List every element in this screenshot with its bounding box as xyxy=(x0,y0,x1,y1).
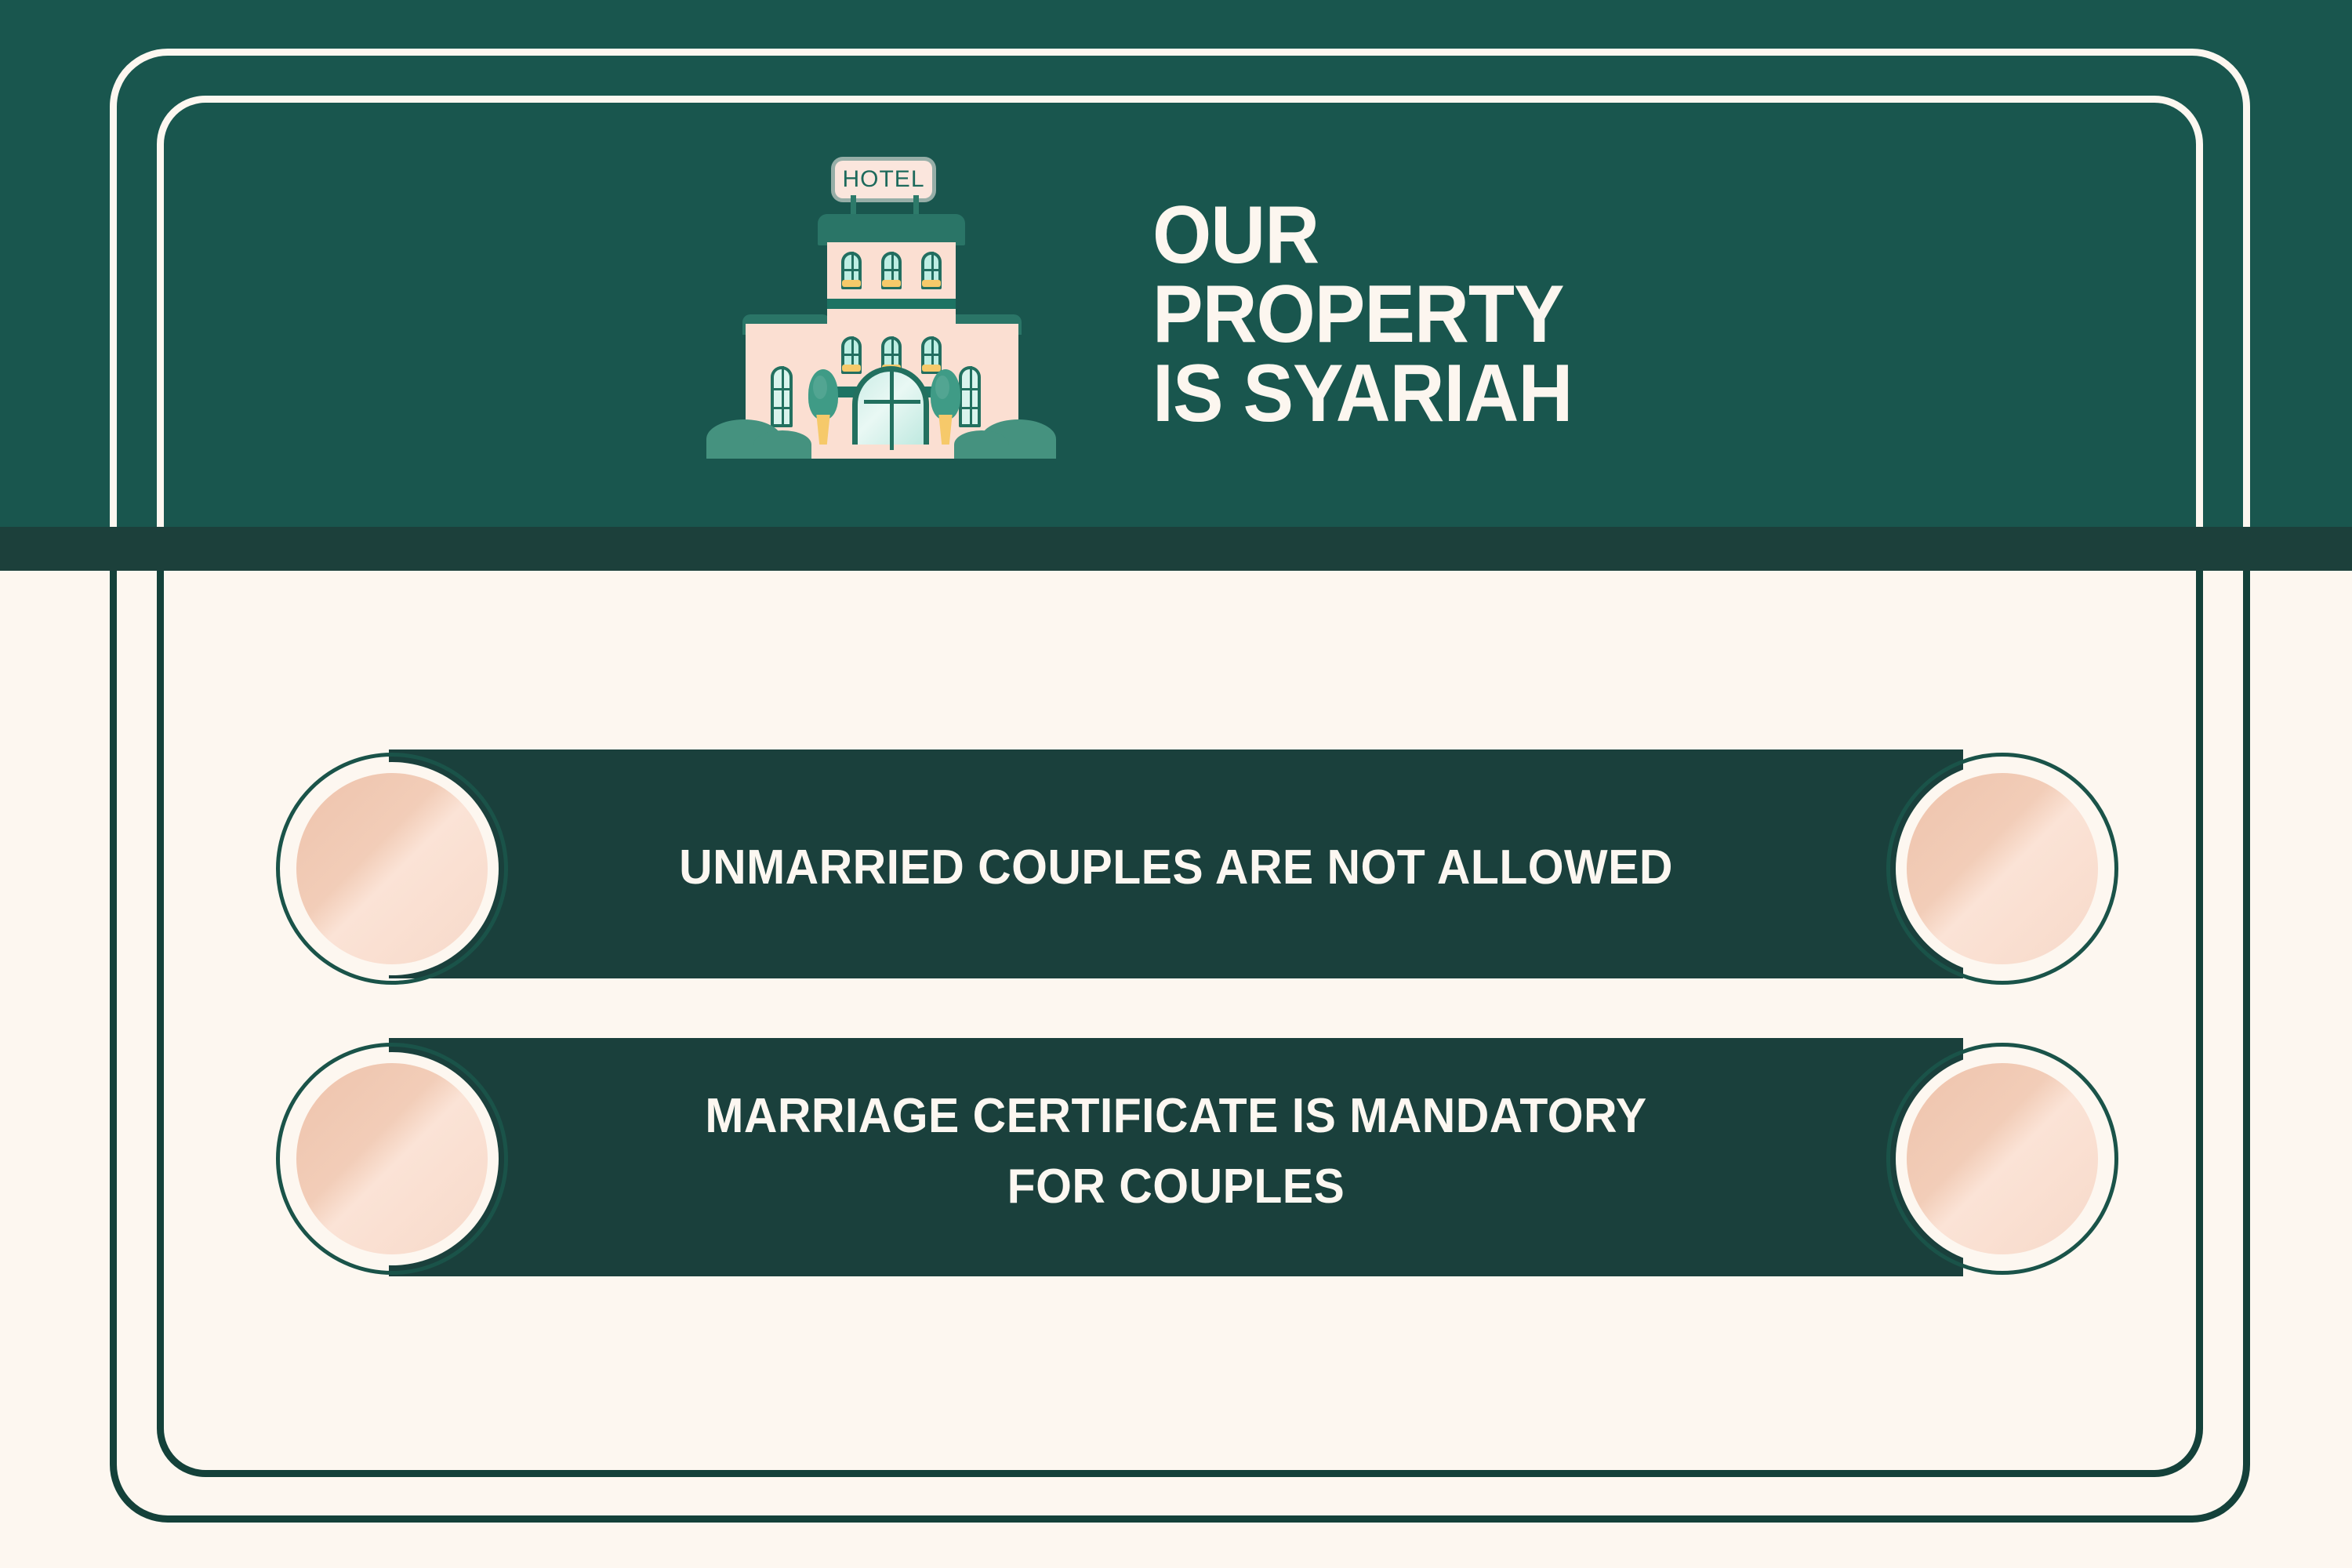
hotel-side-window xyxy=(771,366,793,427)
hotel-cornice-upper xyxy=(827,299,956,309)
decorative-circle-right xyxy=(1907,1063,2098,1254)
hotel-flower-box xyxy=(842,365,861,372)
hotel-sign-label: HOTEL xyxy=(842,166,924,193)
hotel-topiary-plant xyxy=(931,369,960,445)
decorative-circle-right xyxy=(1907,773,2098,964)
decorative-circle-left xyxy=(296,773,488,964)
hotel-shrub xyxy=(954,430,1009,459)
hotel-flower-box xyxy=(922,280,941,287)
decorative-circle-left xyxy=(296,1063,488,1254)
page-title-line-2: PROPERTY xyxy=(1152,275,1969,354)
slide-canvas: HOTEL xyxy=(0,0,2352,1568)
page-title-line-3: IS SYARIAH xyxy=(1152,354,1969,434)
hotel-entrance-door xyxy=(852,366,929,445)
hotel-flower-box xyxy=(842,280,861,287)
rule-banner-text-line-2: FOR COUPLES xyxy=(550,1159,1802,1214)
hotel-topiary-plant xyxy=(808,369,838,445)
hotel-tower-roof xyxy=(818,214,965,245)
hotel-building-illustration: HOTEL xyxy=(678,161,1086,527)
hotel-sign: HOTEL xyxy=(835,161,932,198)
rule-banner-bar xyxy=(389,1038,1963,1276)
hotel-side-window xyxy=(959,366,981,427)
rule-banner-text-line-1: MARRIAGE CERTIFICATE IS MANDATORY xyxy=(550,1088,1802,1144)
inner-frame-border-bottom xyxy=(157,571,2203,1477)
hotel-shrub xyxy=(753,430,811,459)
rule-banner-text: UNMARRIED COUPLES ARE NOT ALLOWED xyxy=(550,840,1802,895)
page-title: OUR PROPERTY IS SYARIAH xyxy=(1152,196,2031,434)
hotel-flower-box xyxy=(882,280,901,287)
divider-dark-band xyxy=(0,527,2352,571)
page-title-line-1: OUR xyxy=(1152,196,1969,275)
